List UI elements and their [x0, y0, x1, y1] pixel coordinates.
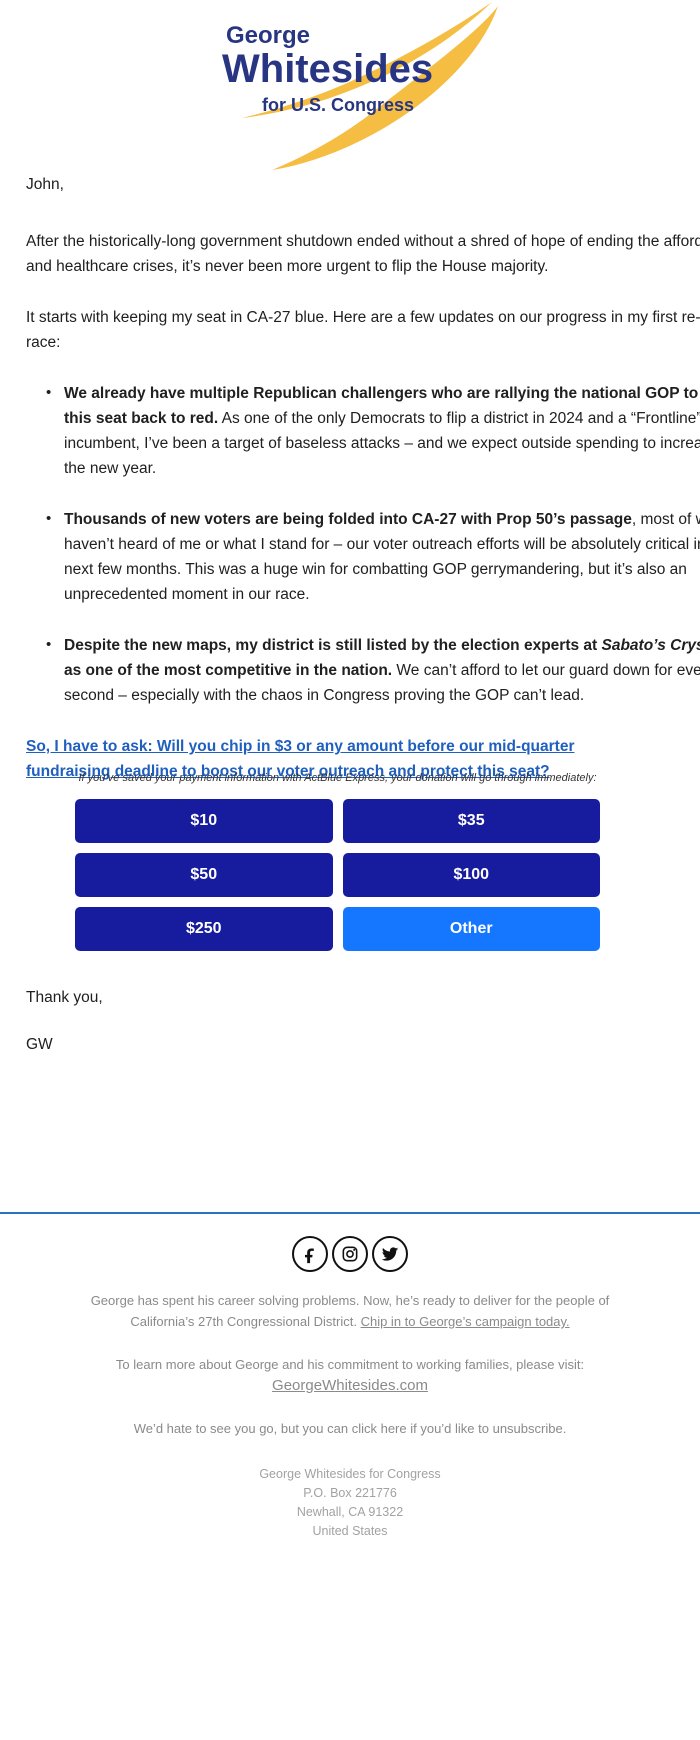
signoff-initials: GW	[26, 1032, 626, 1057]
email-body: John, After the historically-long govern…	[26, 172, 700, 808]
signoff-block: Thank you, GW	[26, 985, 626, 1079]
footer-divider	[0, 1212, 700, 1214]
footer-website-link[interactable]: GeorgeWhitesides.com	[272, 1377, 428, 1394]
bullet-3-bold-italic: Sabato’s Crystal Ball	[602, 637, 700, 654]
paragraph-1: After the historically-long government s…	[26, 229, 700, 279]
address-country: United States	[90, 1522, 610, 1541]
campaign-logo: George Whitesides for U.S. Congress	[180, 0, 520, 172]
footer-address-block: George Whitesides for Congress P.O. Box …	[90, 1465, 610, 1541]
address-org: George Whitesides for Congress	[90, 1465, 610, 1484]
footer-learn-more-text: To learn more about George and his commi…	[116, 1357, 584, 1372]
donate-amount-50[interactable]: $50	[75, 853, 333, 897]
logo-line-whitesides: Whitesides	[222, 47, 433, 91]
instagram-glyph	[340, 1244, 360, 1264]
donation-block: If you’ve saved your payment information…	[75, 770, 600, 951]
footer-unsubscribe-text[interactable]: We’d hate to see you go, but you can cli…	[90, 1418, 610, 1439]
address-city-state-zip: Newhall, CA 91322	[90, 1503, 610, 1522]
donate-amount-10[interactable]: $10	[75, 799, 333, 843]
update-bullet-list: We already have multiple Republican chal…	[26, 381, 700, 708]
donate-amount-other[interactable]: Other	[343, 907, 601, 951]
logo-line-george: George	[226, 22, 310, 49]
email-logo-header: George Whitesides for U.S. Congress	[0, 0, 700, 172]
address-pobox: P.O. Box 221776	[90, 1484, 610, 1503]
footer-bio-text: George has spent his career solving prob…	[90, 1290, 610, 1332]
list-item: Despite the new maps, my district is sti…	[64, 633, 700, 708]
facebook-icon[interactable]	[292, 1236, 328, 1272]
donate-amount-100[interactable]: $100	[343, 853, 601, 897]
paragraph-2: It starts with keeping my seat in CA-27 …	[26, 305, 700, 355]
signoff-thanks: Thank you,	[26, 985, 626, 1010]
bullet-3-bold-pre: Despite the new maps, my district is sti…	[64, 637, 602, 654]
list-item: Thousands of new voters are being folded…	[64, 507, 700, 607]
actblue-express-note: If you’ve saved your payment information…	[75, 770, 600, 786]
twitter-icon[interactable]	[372, 1236, 408, 1272]
list-item: We already have multiple Republican chal…	[64, 381, 700, 481]
footer-learn-more-block: To learn more about George and his commi…	[90, 1354, 610, 1396]
logo-line-for-us-congress: for U.S. Congress	[262, 95, 414, 115]
facebook-glyph	[300, 1244, 320, 1264]
donation-amount-grid: $10 $35 $50 $100 $250 Other	[75, 799, 600, 951]
social-links-row	[0, 1236, 700, 1272]
twitter-bird-glyph	[380, 1244, 400, 1264]
email-footer: George has spent his career solving prob…	[0, 1226, 700, 1541]
donate-amount-250[interactable]: $250	[75, 907, 333, 951]
donate-amount-35[interactable]: $35	[343, 799, 601, 843]
bullet-3-bold-post: as one of the most competitive in the na…	[64, 662, 392, 679]
instagram-icon[interactable]	[332, 1236, 368, 1272]
bullet-2-bold: Thousands of new voters are being folded…	[64, 511, 632, 528]
footer-chip-in-link[interactable]: Chip in to George’s campaign today.	[361, 1314, 570, 1329]
greeting-line: John,	[26, 172, 700, 197]
